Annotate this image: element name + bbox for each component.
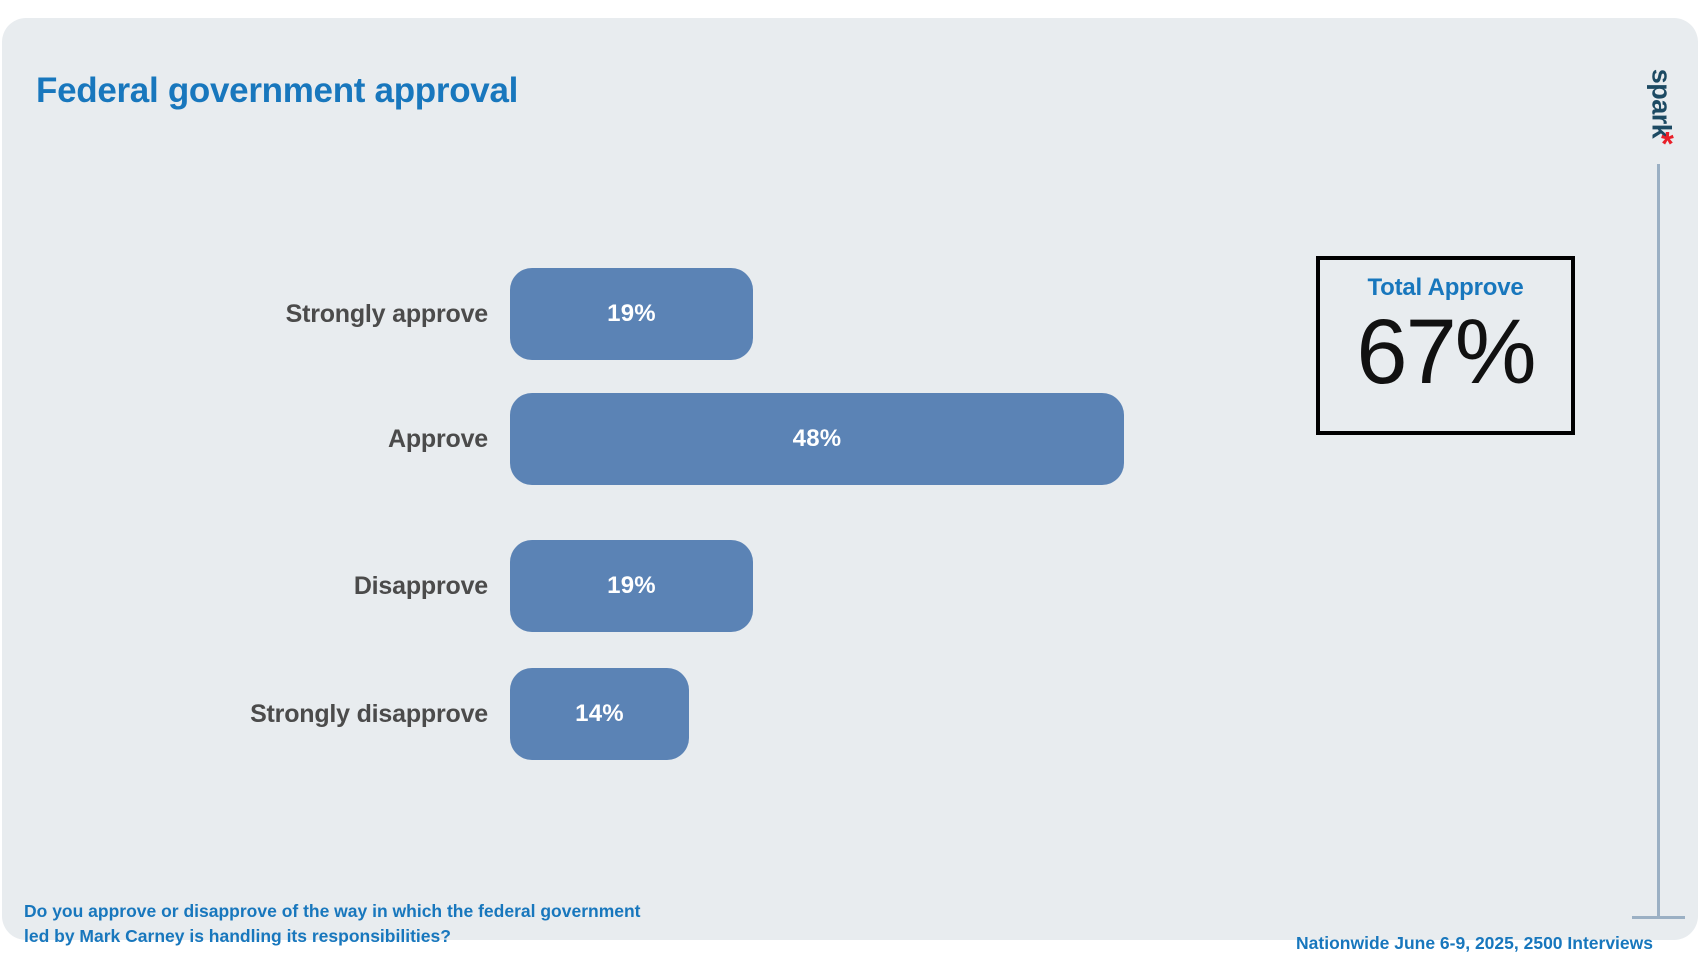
bar-fill: 14% (510, 668, 689, 760)
bar-row: Approve48% (2, 393, 1202, 485)
bar-category-label: Disapprove (354, 540, 488, 632)
survey-source-text: Nationwide June 6-9, 2025, 2500 Intervie… (1296, 933, 1653, 954)
bar-value-label: 48% (510, 393, 1124, 485)
bar-category-label: Strongly disapprove (250, 668, 488, 760)
total-approve-value: 67% (1320, 304, 1571, 401)
bar-fill: 48% (510, 393, 1124, 485)
bar-value-label: 14% (510, 668, 689, 760)
bar-fill: 19% (510, 540, 753, 632)
bar-value-label: 19% (510, 540, 753, 632)
survey-question-text: Do you approve or disapprove of the way … (24, 899, 664, 950)
right-rule-foot-tick (1632, 916, 1685, 919)
bar-track: 48% (510, 393, 1124, 485)
total-approve-callout: Total Approve 67% (1316, 256, 1575, 435)
bar-fill: 19% (510, 268, 753, 360)
bar-row: Strongly approve19% (2, 268, 1202, 360)
bar-row: Strongly disapprove14% (2, 668, 1202, 760)
bar-track: 19% (510, 268, 753, 360)
bar-chart: Strongly approve19%Approve48%Disapprove1… (2, 246, 1202, 746)
total-approve-label: Total Approve (1320, 274, 1571, 302)
bar-category-label: Strongly approve (286, 268, 488, 360)
spark-logo: spark * (1637, 56, 1677, 166)
asterisk-icon: * (1661, 127, 1674, 160)
bar-value-label: 19% (510, 268, 753, 360)
bar-row: Disapprove19% (2, 540, 1202, 632)
bar-category-label: Approve (388, 393, 488, 485)
bar-track: 19% (510, 540, 753, 632)
slide-panel: Federal government approval Strongly app… (2, 18, 1698, 940)
bar-track: 14% (510, 668, 689, 760)
right-vertical-rule (1657, 164, 1660, 918)
page-title: Federal government approval (36, 71, 518, 111)
